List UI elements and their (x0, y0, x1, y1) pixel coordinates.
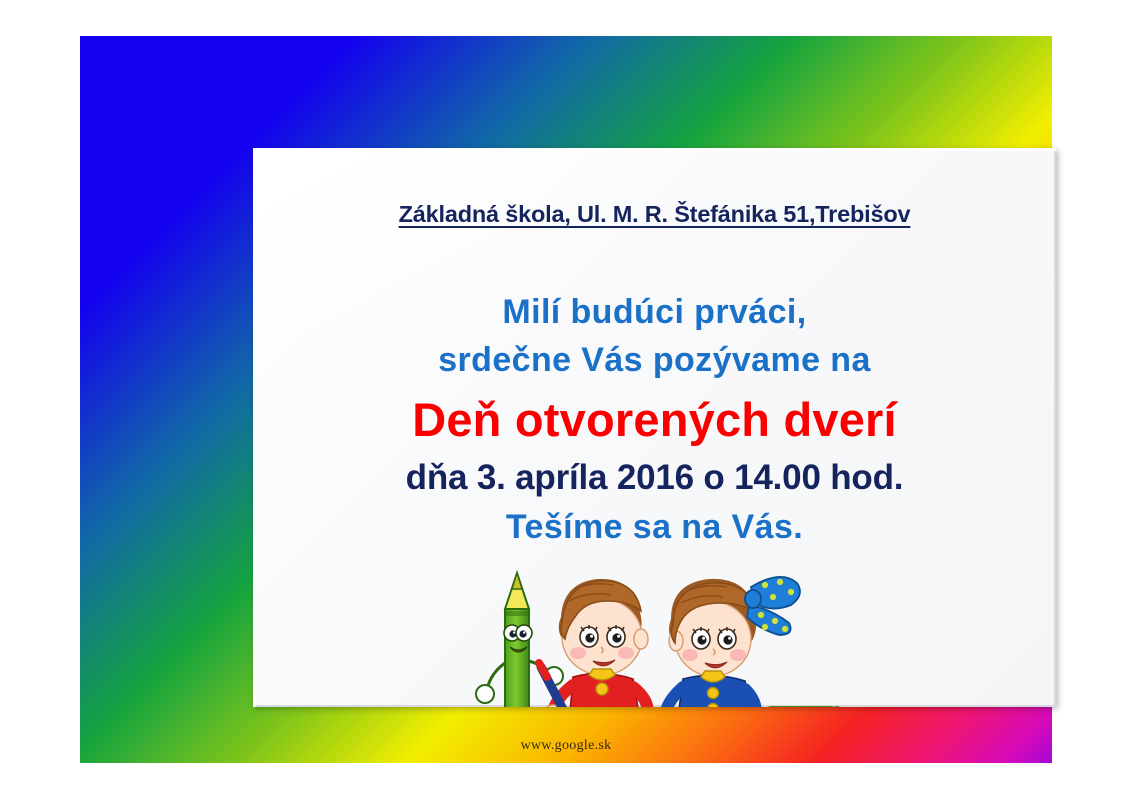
boy-character (539, 579, 657, 707)
girl-character (654, 577, 800, 707)
school-name-heading: Základná škola, Ul. M. R. Štefánika 51,T… (253, 201, 1056, 228)
poster-text-stack: Základná škola, Ul. M. R. Štefánika 51,T… (253, 148, 1056, 547)
children-illustration: a B c o (465, 565, 855, 707)
white-content-card: Základná škola, Ul. M. R. Štefánika 51,T… (253, 148, 1056, 707)
greeting-line-2: srdečne Vás pozývame na (253, 341, 1056, 380)
closing-line: Tešíme sa na Vás. (253, 508, 1056, 547)
event-title: Deň otvorených dverí (253, 392, 1056, 447)
event-date-time: dňa 3. apríla 2016 o 14.00 hod. (253, 458, 1056, 498)
poster-page: Základná škola, Ul. M. R. Štefánika 51,T… (0, 0, 1132, 800)
rainbow-gradient-frame: Základná škola, Ul. M. R. Štefánika 51,T… (80, 36, 1052, 763)
greeting-line-1: Milí budúci prváci, (253, 293, 1056, 332)
watermark-url: www.google.sk (0, 738, 1132, 754)
